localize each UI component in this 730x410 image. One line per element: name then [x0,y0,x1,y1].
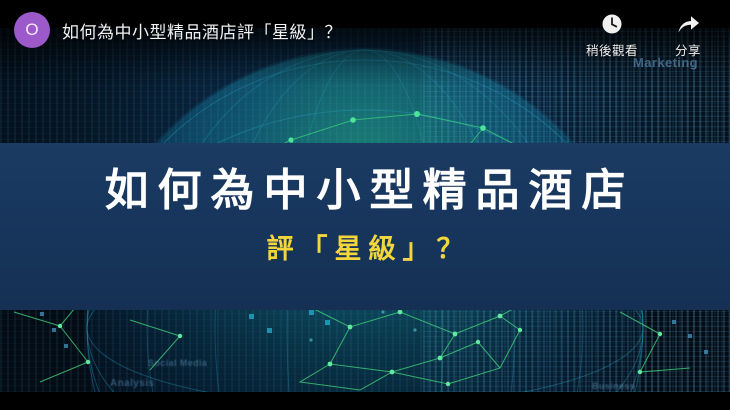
slide-subheadline: 評「星級」？ [0,236,730,263]
artwork-label-business: Business [592,381,635,391]
artwork-label-social-media: Social Media [148,358,207,368]
slide-title-banner: 如何為中小型精品酒店 評「星級」？ [0,143,730,310]
artwork-label-analysis: Analysis [110,378,154,389]
watch-later-label: 稍後觀看 [575,40,649,59]
clock-icon [575,10,649,38]
video-player[interactable]: Social Media Analysis Business Marketing… [0,0,730,410]
share-label: 分享 [651,40,725,59]
video-title[interactable]: 如何為中小型精品酒店評「星級」？ [62,18,342,43]
letterbox-bottom [0,392,730,410]
share-button[interactable]: 分享 [651,10,725,59]
watch-later-button[interactable]: 稍後觀看 [575,10,649,59]
video-frame-background: Social Media Analysis Business Marketing… [0,0,730,410]
share-arrow-icon [651,10,725,38]
channel-avatar[interactable]: O [14,12,50,48]
slide-headline: 如何為中小型精品酒店 [0,169,730,213]
